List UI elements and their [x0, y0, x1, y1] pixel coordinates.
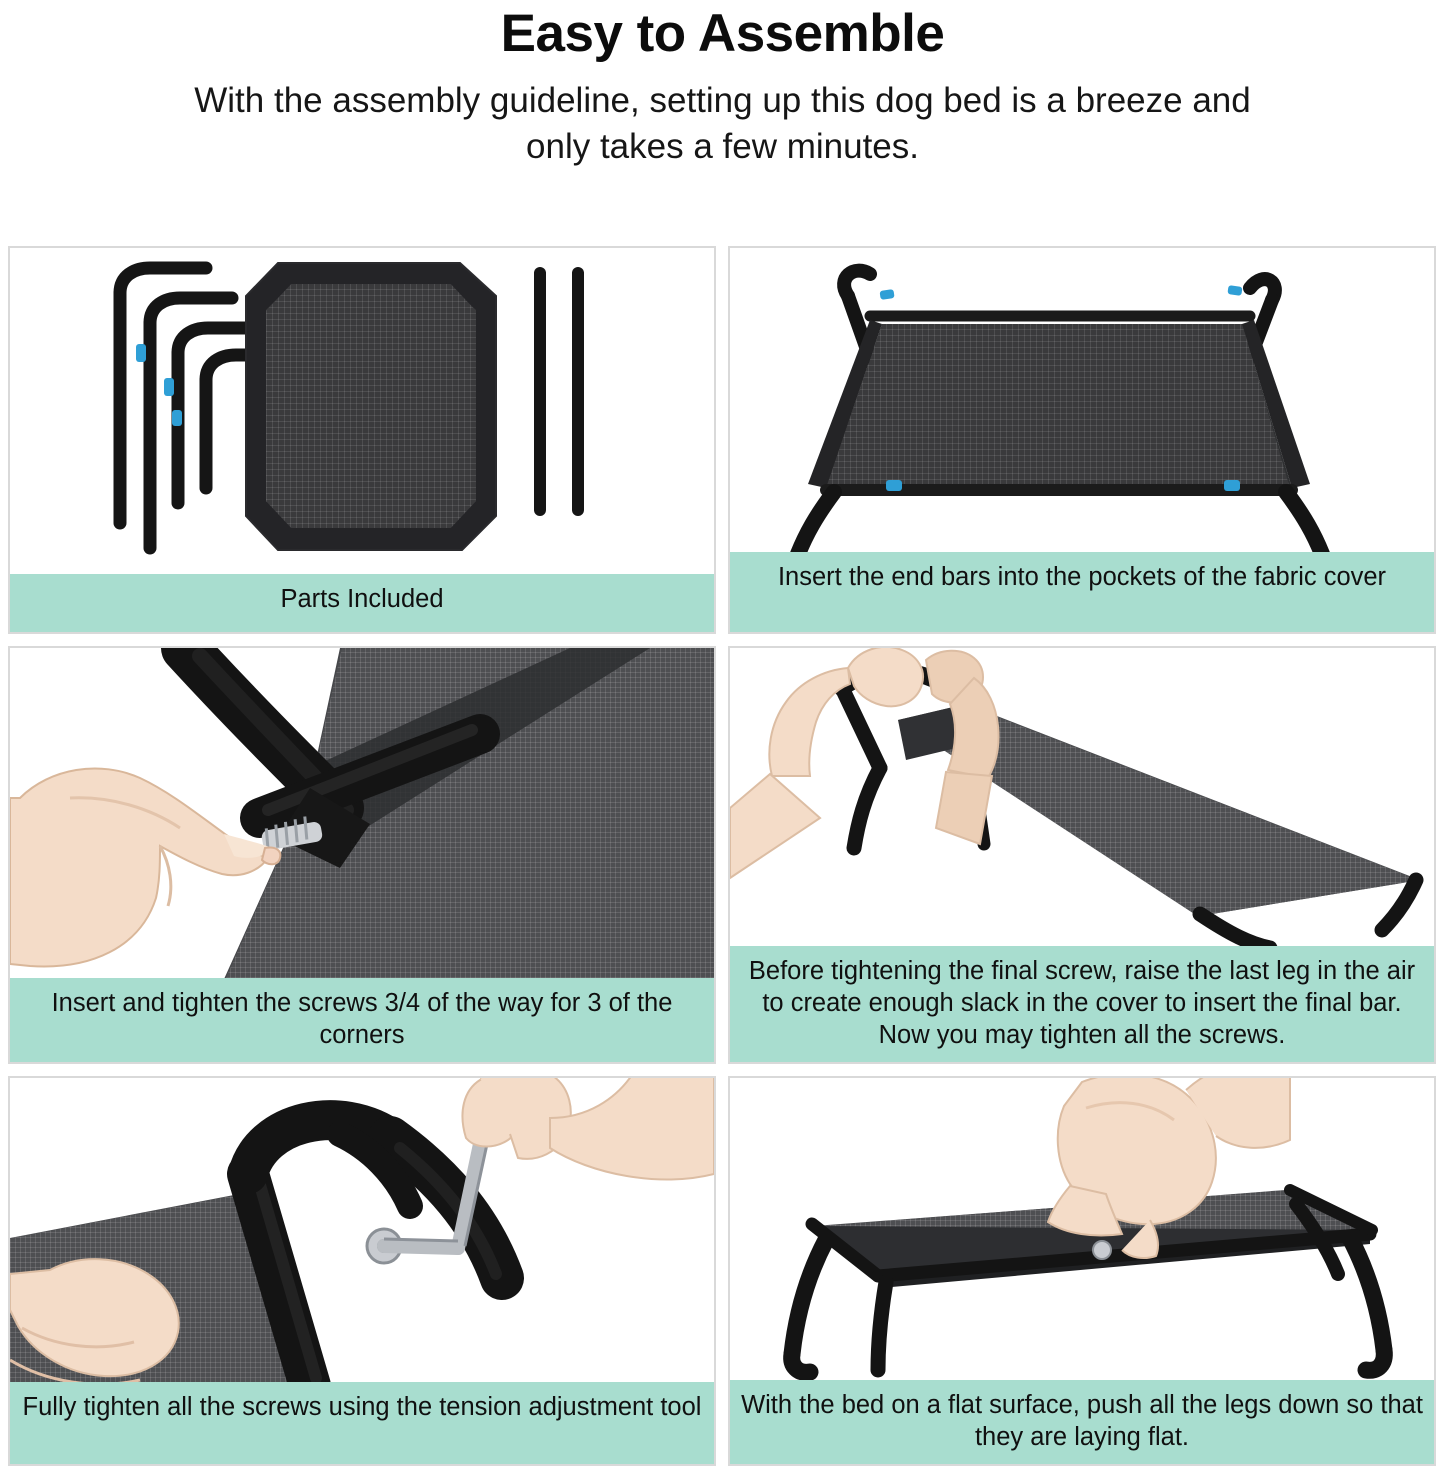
steps-grid: Parts Included — [8, 246, 1437, 1466]
step-panel-parts-included: Parts Included — [8, 246, 716, 634]
step-caption-flatten-legs: With the bed on a flat surface, push all… — [730, 1380, 1434, 1464]
step-panel-fully-tighten-screws: Fully tighten all the screws using the t… — [8, 1076, 716, 1466]
step-panel-raise-last-leg: Before tightening the final screw, raise… — [728, 646, 1436, 1064]
step-caption-tighten-three-corners: Insert and tighten the screws 3/4 of the… — [10, 978, 714, 1062]
page-title: Easy to Assemble — [0, 6, 1445, 62]
page-header: Easy to Assemble With the assembly guide… — [0, 0, 1445, 170]
step-panel-flatten-legs: With the bed on a flat surface, push all… — [728, 1076, 1436, 1466]
step-caption-fully-tighten-screws: Fully tighten all the screws using the t… — [10, 1382, 714, 1464]
step-caption-parts-included: Parts Included — [10, 574, 714, 632]
step-caption-insert-end-bars: Insert the end bars into the pockets of … — [730, 552, 1434, 632]
step-caption-raise-last-leg: Before tightening the final screw, raise… — [730, 946, 1434, 1062]
assembly-instructions-page: Easy to Assemble With the assembly guide… — [0, 0, 1445, 1433]
step-panel-tighten-three-corners: Insert and tighten the screws 3/4 of the… — [8, 646, 716, 1064]
page-subtitle: With the assembly guideline, setting up … — [163, 78, 1283, 170]
step-panel-insert-end-bars: Insert the end bars into the pockets of … — [728, 246, 1436, 634]
